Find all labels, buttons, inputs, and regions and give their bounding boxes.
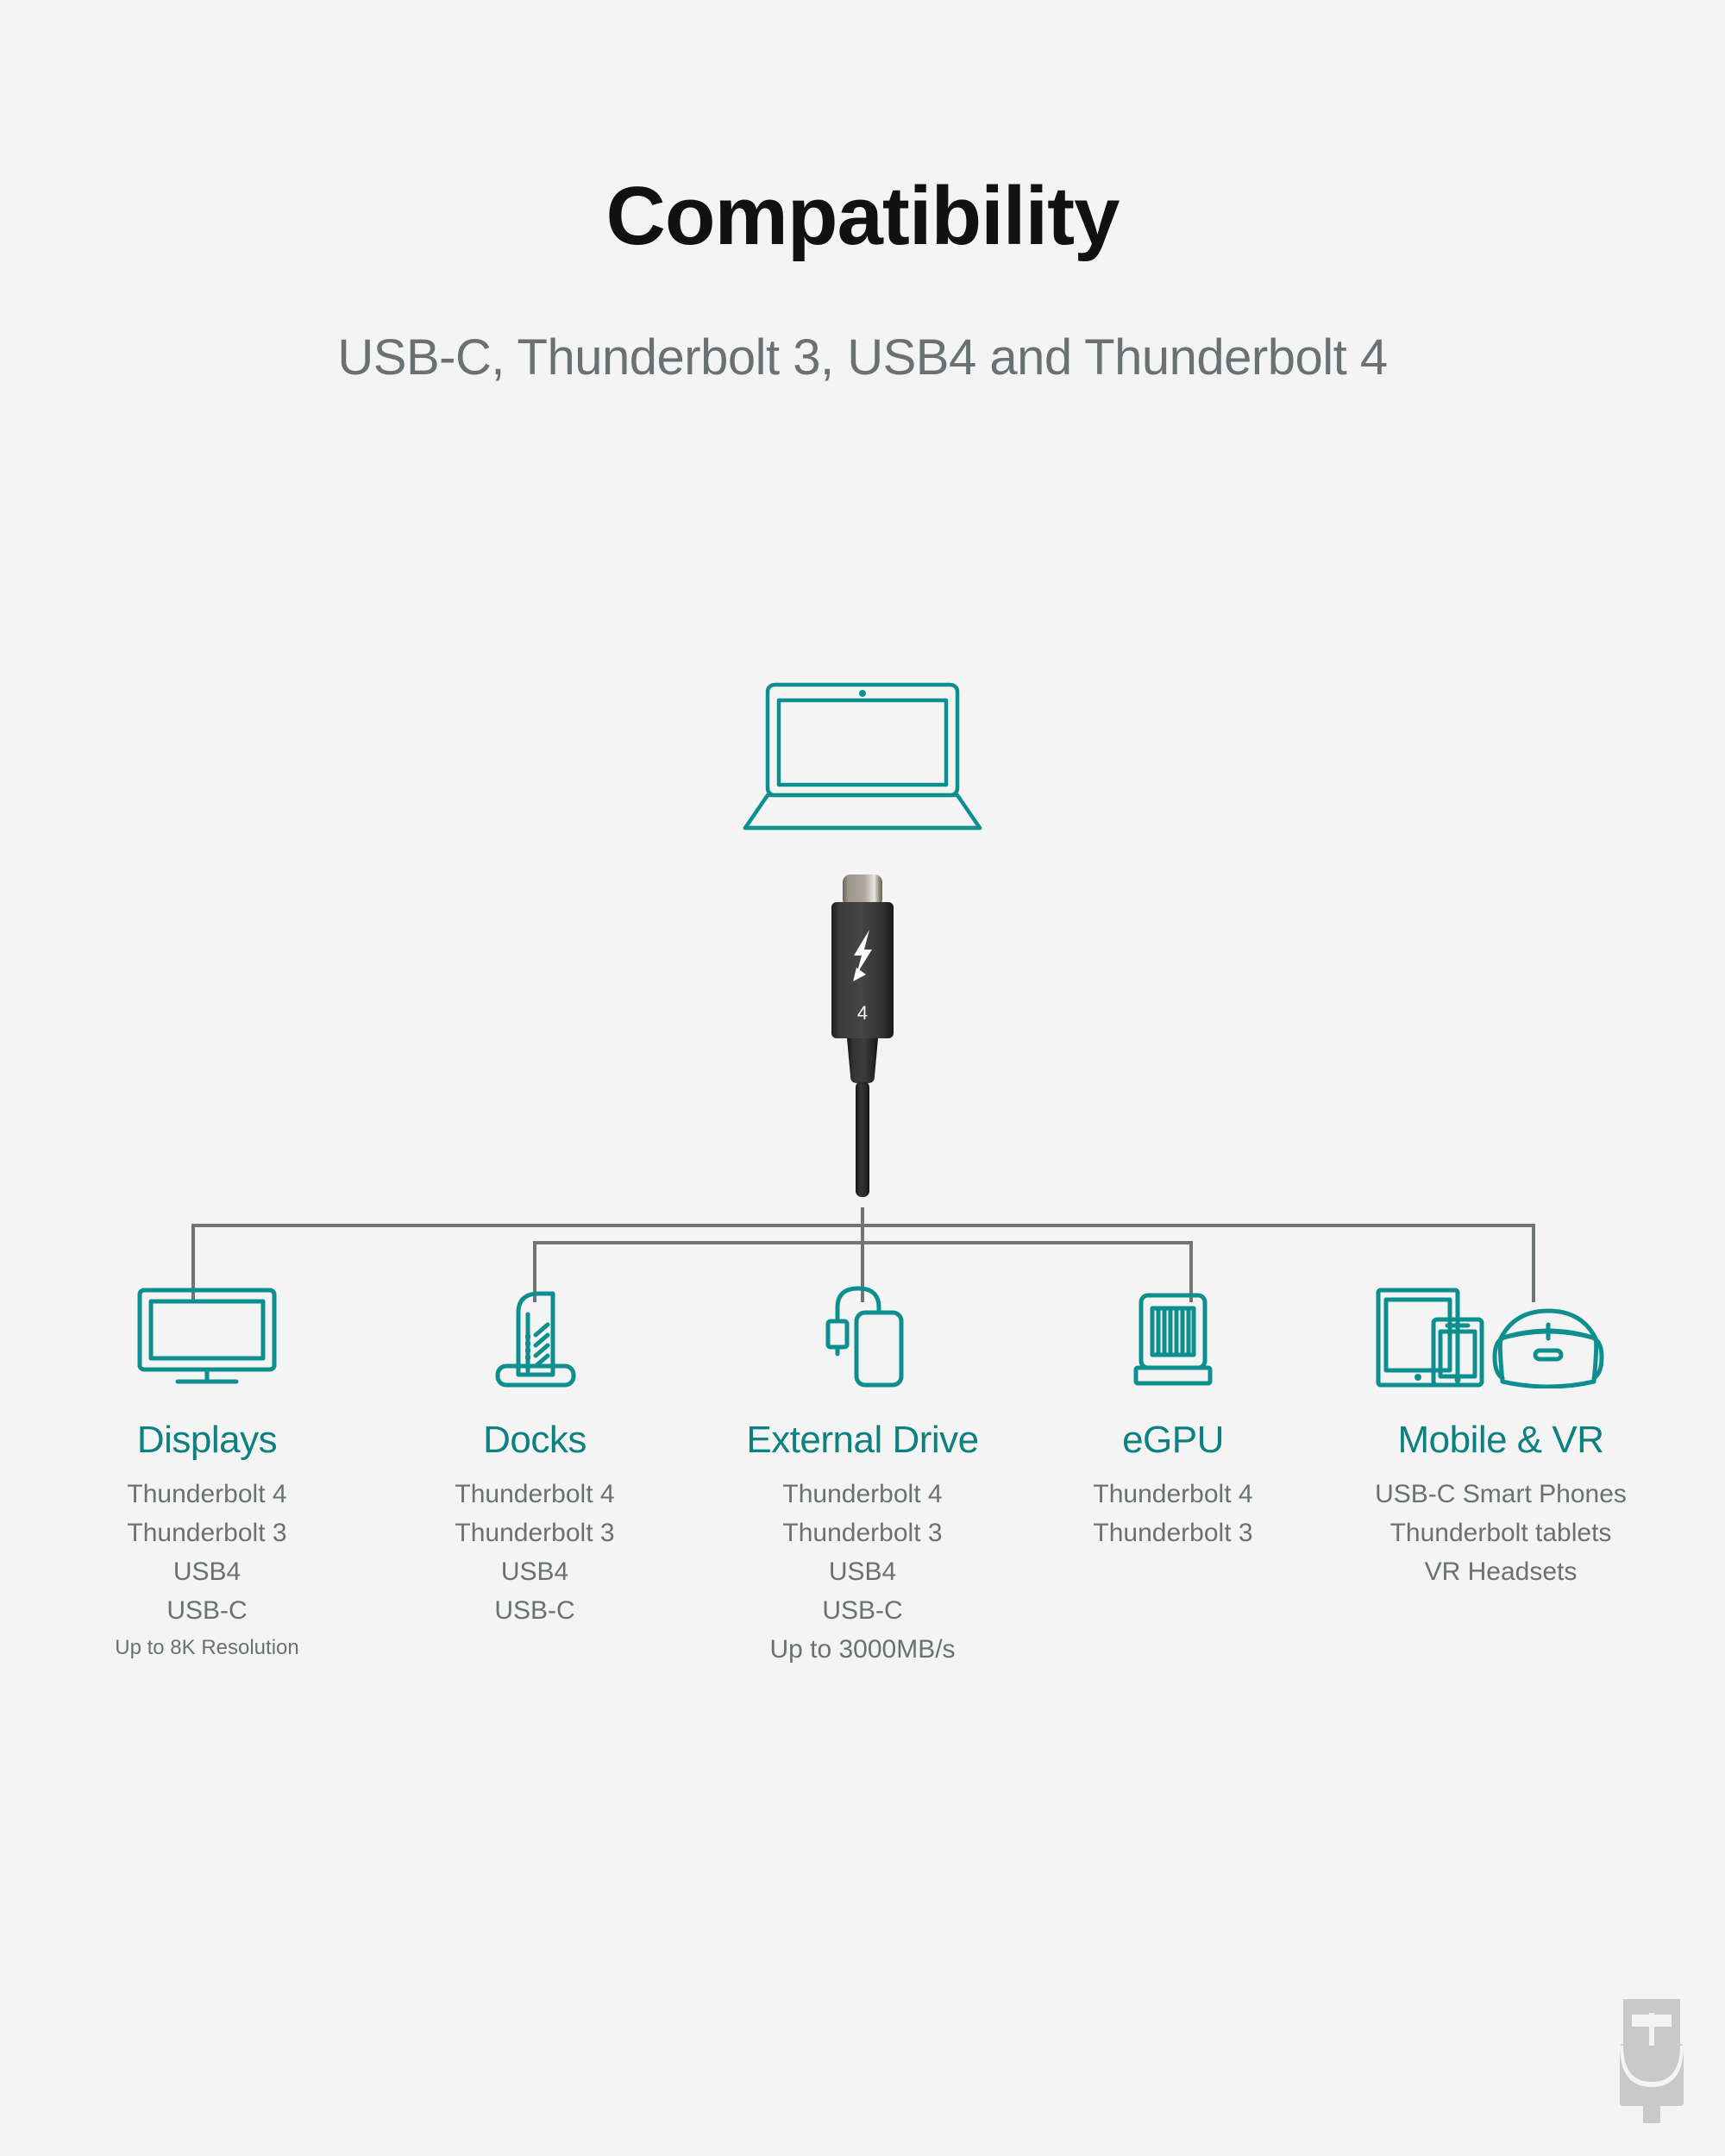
spec-item: USB-C Smart Phones xyxy=(1311,1475,1690,1514)
spec-item: USB4 xyxy=(34,1552,379,1591)
category-name: Mobile & VR xyxy=(1311,1418,1690,1463)
category-external-drive[interactable]: External Drive Thunderbolt 4 Thunderbolt… xyxy=(690,1285,1035,1669)
page-subtitle: USB-C, Thunderbolt 3, USB4 and Thunderbo… xyxy=(0,328,1725,388)
spec-item: USB-C xyxy=(690,1591,1035,1630)
spec-item: Thunderbolt 4 xyxy=(34,1475,379,1514)
spec-item: Thunderbolt 4 xyxy=(1035,1475,1311,1514)
spec-item: Thunderbolt 3 xyxy=(690,1514,1035,1552)
mobile-vr-icon xyxy=(1311,1285,1690,1388)
spec-item: Thunderbolt tablets xyxy=(1311,1514,1690,1552)
page-title: Compatibility xyxy=(0,169,1725,264)
monitor-icon xyxy=(34,1285,379,1388)
infographic-page: Compatibility USB-C, Thunderbolt 3, USB4… xyxy=(0,0,1725,2156)
dock-icon xyxy=(379,1285,690,1388)
spec-item: USB4 xyxy=(379,1552,690,1591)
category-specs: Thunderbolt 4 Thunderbolt 3 xyxy=(1035,1475,1311,1552)
cable-badge: 4 xyxy=(825,1002,900,1025)
category-specs: Thunderbolt 4 Thunderbolt 3 USB4 USB-C U… xyxy=(34,1475,379,1666)
category-displays[interactable]: Displays Thunderbolt 4 Thunderbolt 3 USB… xyxy=(34,1285,379,1666)
spec-item: Thunderbolt 4 xyxy=(379,1475,690,1514)
category-row: Displays Thunderbolt 4 Thunderbolt 3 USB… xyxy=(0,1285,1725,1820)
category-name: Displays xyxy=(34,1418,379,1463)
egpu-icon xyxy=(1035,1285,1311,1388)
thunderbolt-4-cable: 4 xyxy=(825,873,900,1200)
category-specs: Thunderbolt 4 Thunderbolt 3 USB4 USB-C U… xyxy=(690,1475,1035,1669)
spec-item: USB4 xyxy=(690,1552,1035,1591)
category-docks[interactable]: Docks Thunderbolt 4 Thunderbolt 3 USB4 U… xyxy=(379,1285,690,1630)
category-name: eGPU xyxy=(1035,1418,1311,1463)
category-mobile-vr[interactable]: Mobile & VR USB-C Smart Phones Thunderbo… xyxy=(1311,1285,1690,1591)
spec-item: USB-C xyxy=(379,1591,690,1630)
category-name: External Drive xyxy=(690,1418,1035,1463)
category-specs: Thunderbolt 4 Thunderbolt 3 USB4 USB-C xyxy=(379,1475,690,1630)
spec-item: Thunderbolt 3 xyxy=(1035,1514,1311,1552)
spec-item: VR Headsets xyxy=(1311,1552,1690,1591)
category-egpu[interactable]: eGPU Thunderbolt 4 Thunderbolt 3 xyxy=(1035,1285,1311,1552)
laptop-icon xyxy=(740,681,985,837)
spec-item: Thunderbolt 4 xyxy=(690,1475,1035,1514)
category-specs: USB-C Smart Phones Thunderbolt tablets V… xyxy=(1311,1475,1690,1591)
spec-item: Thunderbolt 3 xyxy=(379,1514,690,1552)
usb-plug-icon xyxy=(1604,1992,1699,2130)
category-note: Up to 8K Resolution xyxy=(34,1630,379,1666)
external-drive-icon xyxy=(690,1285,1035,1388)
category-name: Docks xyxy=(379,1418,690,1463)
spec-item: USB-C xyxy=(34,1591,379,1630)
spec-item: Thunderbolt 3 xyxy=(34,1514,379,1552)
category-note: Up to 3000MB/s xyxy=(690,1630,1035,1669)
